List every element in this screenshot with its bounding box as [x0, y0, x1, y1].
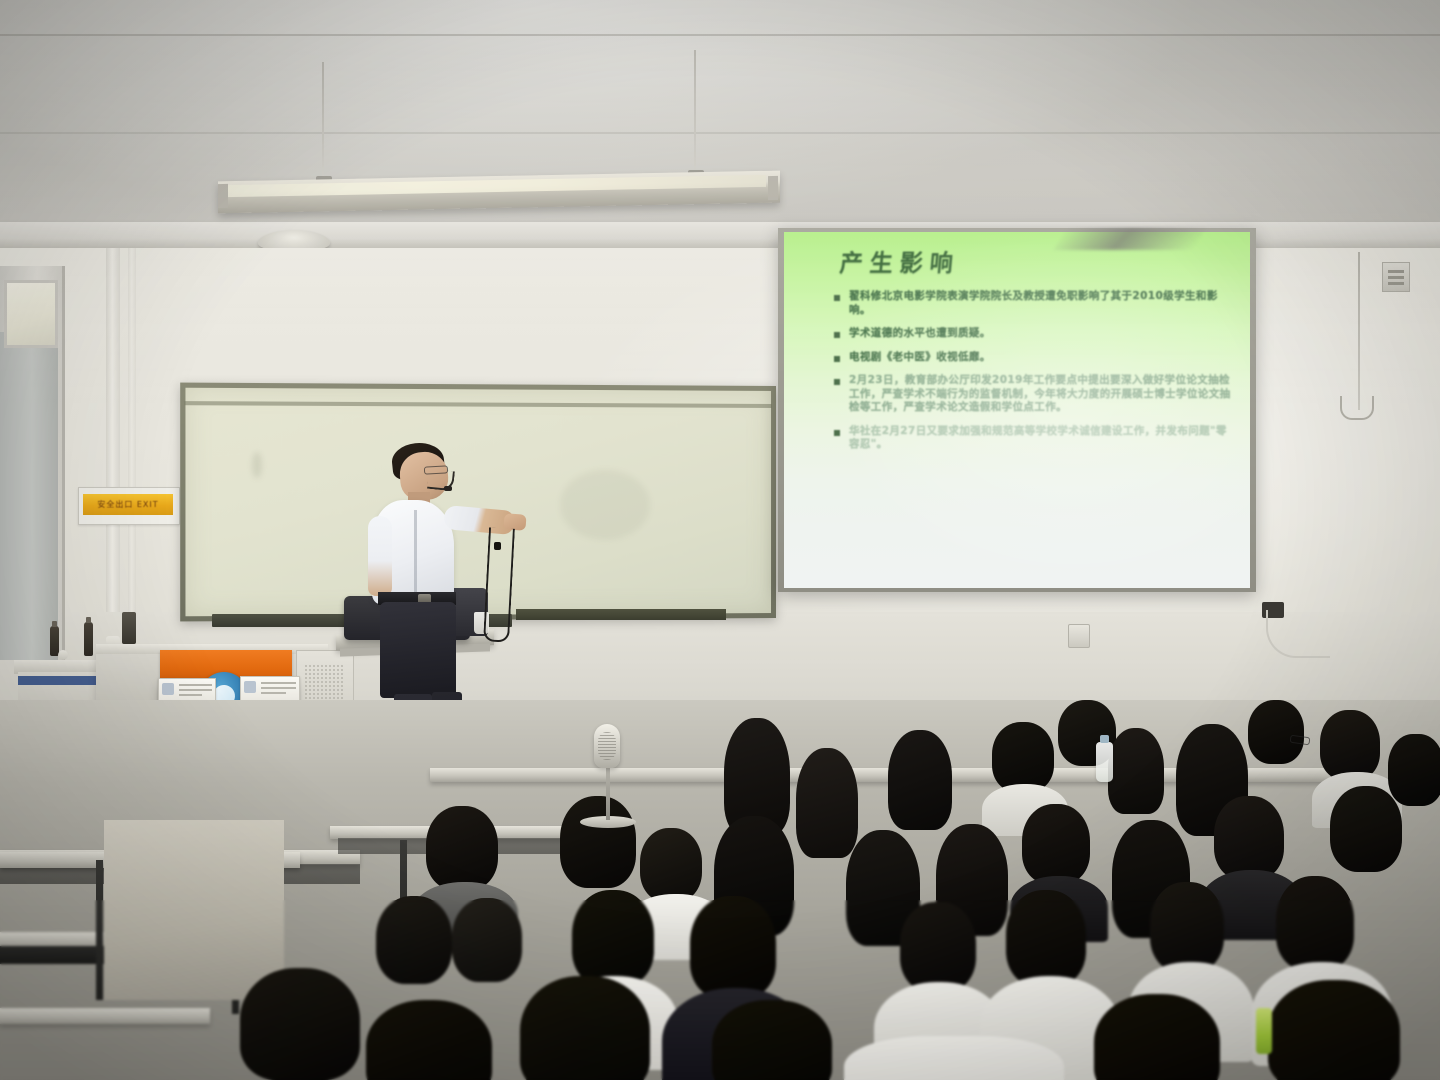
whiteboard-marker-tray — [516, 609, 726, 620]
headset-mic-capsule — [444, 486, 452, 491]
student-head — [1006, 890, 1086, 986]
student-head — [1388, 734, 1440, 806]
student-head — [690, 896, 776, 998]
microphone-stand — [606, 760, 610, 820]
student-head — [426, 806, 498, 890]
student-hair — [1108, 728, 1164, 814]
student-head — [1276, 876, 1354, 970]
hanging-cable — [1358, 252, 1360, 410]
student-head — [1320, 710, 1380, 780]
lanyard-bead — [494, 542, 501, 550]
slide-title: 产生影响 — [839, 244, 962, 278]
student-head — [560, 796, 636, 888]
list-item: 学术道德的水平也遭到质疑。 — [834, 327, 1234, 341]
desk-row — [0, 1008, 210, 1024]
water-bottle — [1096, 742, 1113, 782]
light-endcap — [218, 184, 228, 208]
student-shirt — [844, 1036, 1064, 1080]
lecture-hall-photo: 安全出口 EXIT 产生影响 翟科修北京电影学院表演学院院长及教授遭免职影响了其… — [0, 0, 1440, 1080]
bottle — [84, 622, 93, 656]
student-head — [1022, 804, 1090, 884]
bullet-marker-icon — [834, 332, 840, 338]
slide-bullet-list: 翟科修北京电影学院表演学院院长及教授遭免职影响了其于2010级学生和影响。 学术… — [834, 290, 1234, 462]
bullet-marker-icon — [834, 379, 840, 385]
cable-run — [1266, 610, 1330, 658]
list-item: 华社在2月27日又要求加强和规范高等学校学术诚信建设工作，并发布问题"零容忍"。 — [834, 425, 1234, 452]
student-hair — [796, 748, 858, 858]
slide-bullet-text: 学术道德的水平也遭到质疑。 — [849, 327, 991, 341]
shirt-placket — [414, 510, 417, 598]
slide-bullet-text: 华社在2月27日又要求加强和规范高等学校学术诚信建设工作，并发布问题"零容忍"。 — [849, 425, 1234, 452]
ceiling-seam — [0, 132, 1440, 134]
student-head — [1330, 786, 1402, 872]
door-window — [4, 280, 58, 348]
list-item: 翟科修北京电影学院表演学院院长及教授遭免职影响了其于2010级学生和影响。 — [834, 290, 1234, 317]
student-head — [640, 828, 702, 902]
student-head — [900, 902, 976, 992]
lecturer-arm — [368, 516, 392, 596]
desk-leg — [96, 860, 103, 1000]
wall-outlet[interactable] — [1068, 624, 1090, 648]
light-suspension-wire — [322, 62, 324, 182]
slide-bullet-text: 电视剧《老中医》收视低靡。 — [849, 351, 991, 365]
wall-pilaster — [106, 248, 120, 668]
green-bottle — [1256, 1008, 1272, 1054]
whiteboard-surface — [185, 388, 771, 617]
slide-bullet-text: 2月23日，教育部办公厅印发2019年工作要点中提出要深入做好学位论文抽检工作，… — [849, 374, 1234, 415]
wall-pilaster — [128, 248, 136, 668]
cable-hook — [1340, 396, 1374, 420]
student-head — [1248, 700, 1304, 764]
ceiling-shading — [0, 0, 1440, 250]
student-head — [572, 890, 654, 986]
microphone-grille — [598, 732, 616, 760]
student-head — [366, 1000, 492, 1080]
student-head — [452, 898, 522, 982]
desk-side-panel — [104, 820, 284, 1000]
table-stripe — [18, 676, 102, 685]
bullet-marker-icon — [834, 430, 840, 436]
slide-bullet-text: 翟科修北京电影学院表演学院院长及教授遭免职影响了其于2010级学生和影响。 — [849, 290, 1234, 317]
whiteboard — [180, 383, 776, 622]
whiteboard-mark — [560, 470, 650, 540]
lecturer-trousers — [380, 602, 456, 698]
ceiling-seam — [0, 34, 1440, 36]
student-head — [520, 976, 650, 1080]
list-item: 电视剧《老中医》收视低靡。 — [834, 351, 1234, 365]
thermos — [122, 612, 136, 644]
exit-sign: 安全出口 EXIT — [83, 494, 173, 515]
student-head — [1150, 882, 1224, 972]
wall-junction-box — [1382, 262, 1410, 292]
light-suspension-wire — [694, 50, 696, 172]
presentation-slide: 产生影响 翟科修北京电影学院表演学院院长及教授遭免职影响了其于2010级学生和影… — [784, 232, 1250, 588]
student-head — [240, 968, 360, 1080]
light-endcap — [768, 176, 778, 200]
bottle — [50, 626, 59, 656]
desk-object — [58, 650, 68, 660]
student-hair — [888, 730, 952, 830]
student-head — [1094, 994, 1220, 1080]
student-head — [1268, 980, 1400, 1080]
student-head — [1214, 796, 1284, 880]
exit-sign-label: 安全出口 EXIT — [97, 499, 158, 510]
student-head — [992, 722, 1054, 792]
student-head — [376, 896, 452, 984]
bullet-marker-icon — [834, 295, 840, 301]
whiteboard-mark — [252, 452, 262, 478]
bullet-marker-icon — [834, 356, 840, 362]
student-head — [712, 1000, 832, 1080]
screen-glare — [1054, 228, 1207, 250]
audience-area — [0, 700, 1440, 1080]
list-item: 2月23日，教育部办公厅印发2019年工作要点中提出要深入做好学位论文抽检工作，… — [834, 374, 1234, 415]
